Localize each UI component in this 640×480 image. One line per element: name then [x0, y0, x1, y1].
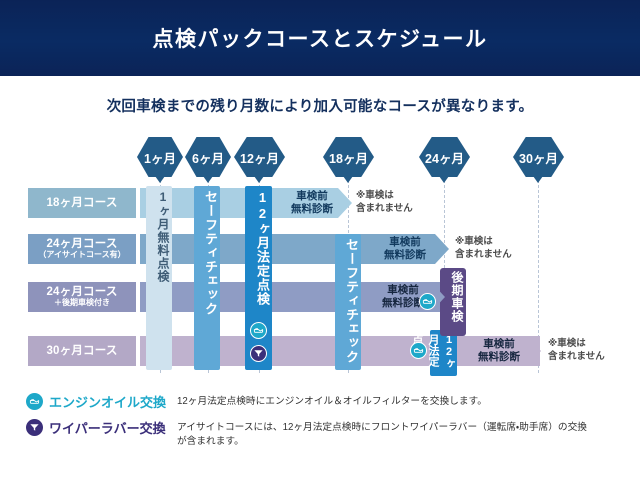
oil-can-icon [410, 342, 427, 359]
oil-can-icon [250, 322, 267, 339]
timeline-marker-tip-12m [254, 176, 264, 183]
timeline-marker-6m: 6ヶ月 [185, 137, 231, 177]
service-column-legal-check-24m: 12ヶ月法定点検 [430, 330, 457, 376]
course-label-30m: 30ヶ月コース [28, 336, 136, 366]
late-inspection-box: 後期車検 [440, 268, 466, 336]
legend-description: 12ヶ月法定点検時にエンジンオイル＆オイルフィルターを交換します。 [177, 392, 487, 409]
timeline-marker-label: 6ヶ月 [192, 148, 224, 167]
note-line2: 含まれません [356, 203, 413, 216]
pre-inspection-line1: 車検前 [384, 236, 426, 249]
legend-label: ワイパーラバー交換 [49, 418, 177, 437]
pre-inspection-arrow-row4: 車検前 無料診断 [457, 336, 541, 366]
note-line1: ※車検は [548, 338, 605, 351]
pre-inspection-line1: 車検前 [291, 190, 333, 203]
course-label-subtext: ＋後期車検付き [54, 299, 110, 308]
note-line1: ※車検は [356, 190, 413, 203]
service-label: セーフティチェック [201, 190, 220, 316]
pre-inspection-line2: 無料診断 [384, 249, 426, 262]
timeline-marker-label: 1ヶ月 [144, 148, 176, 167]
pre-inspection-arrow-row2: 車検前 無料診断 [361, 234, 449, 264]
service-column-legal-check-12m: 12ヶ月法定点検 [245, 186, 272, 370]
pre-inspection-arrow-row1: 車検前 無料診断 [272, 188, 352, 218]
timeline-marker-label: 24ヶ月 [425, 148, 464, 167]
wiper-blade-icon [250, 345, 267, 362]
maintenance-schedule-infographic: 点検パックコースとスケジュール 次回車検までの残り月数により加入可能なコースが異… [0, 0, 640, 480]
course-label-18m: 18ヶ月コース [28, 188, 136, 218]
wiper-blade-icon [26, 419, 43, 436]
no-inspection-note-row4: ※車検は 含まれません [548, 338, 605, 364]
timeline-marker-label: 30ヶ月 [519, 148, 558, 167]
late-inspection-label: 後期車検 [449, 271, 466, 323]
note-line2: 含まれません [455, 249, 512, 262]
pre-inspection-line2: 無料診断 [382, 297, 424, 310]
timeline-marker-tip-24m [439, 176, 449, 183]
legend: エンジンオイル交換 12ヶ月法定点検時にエンジンオイル＆オイルフィルターを交換し… [26, 392, 622, 456]
oil-can-icon [419, 293, 436, 310]
timeline-marker-18m: 18ヶ月 [323, 137, 374, 177]
pre-inspection-line1: 車検前 [382, 284, 424, 297]
legend-description: アイサイトコースには、12ヶ月法定点検時にフロントワイパーラバー（運転席・助手席… [177, 418, 595, 449]
course-label-24m-late: 24ヶ月コース ＋後期車検付き [28, 282, 136, 312]
legend-item-wiper: ワイパーラバー交換 アイサイトコースには、12ヶ月法定点検時にフロントワイパーラ… [26, 418, 622, 449]
timeline-marker-tip-18m [343, 176, 353, 183]
timeline-marker-tip-1m [155, 176, 165, 183]
note-line1: ※車検は [455, 236, 512, 249]
service-label: 1ヶ月無料点検 [155, 190, 172, 283]
course-label-subtext: （アイサイトコース有） [38, 251, 125, 260]
timeline-marker-tip-6m [203, 176, 213, 183]
course-label-text: 18ヶ月コース [46, 197, 117, 210]
timeline-marker-1m: 1ヶ月 [137, 137, 183, 177]
pre-inspection-line2: 無料診断 [291, 203, 333, 216]
legend-item-oil: エンジンオイル交換 12ヶ月法定点検時にエンジンオイル＆オイルフィルターを交換し… [26, 392, 622, 411]
no-inspection-note-row1: ※車検は 含まれません [356, 190, 413, 216]
pre-inspection-line1: 車検前 [478, 338, 520, 351]
legend-label: エンジンオイル交換 [49, 392, 177, 411]
course-label-text: 30ヶ月コース [46, 345, 117, 358]
course-label-24m-eyesight: 24ヶ月コース （アイサイトコース有） [28, 234, 136, 264]
no-inspection-note-row2: ※車検は 含まれません [455, 236, 512, 262]
service-column-first-check: 1ヶ月無料点検 [146, 186, 172, 370]
timeline-marker-tip-30m [533, 176, 543, 183]
service-column-safety-check-6m: セーフティチェック [194, 186, 220, 370]
timeline-marker-24m: 24ヶ月 [419, 137, 470, 177]
timeline-marker-label: 18ヶ月 [329, 148, 368, 167]
timeline-marker-label: 12ヶ月 [240, 148, 279, 167]
oil-can-icon [26, 393, 43, 410]
timeline-marker-30m: 30ヶ月 [513, 137, 564, 177]
service-label: 12ヶ月法定点検 [253, 190, 272, 306]
service-label: セーフティチェック [342, 238, 361, 364]
note-line2: 含まれません [548, 351, 605, 364]
timeline-marker-12m: 12ヶ月 [234, 137, 285, 177]
pre-inspection-line2: 無料診断 [478, 351, 520, 364]
service-column-safety-check-18m: セーフティチェック [335, 234, 361, 370]
